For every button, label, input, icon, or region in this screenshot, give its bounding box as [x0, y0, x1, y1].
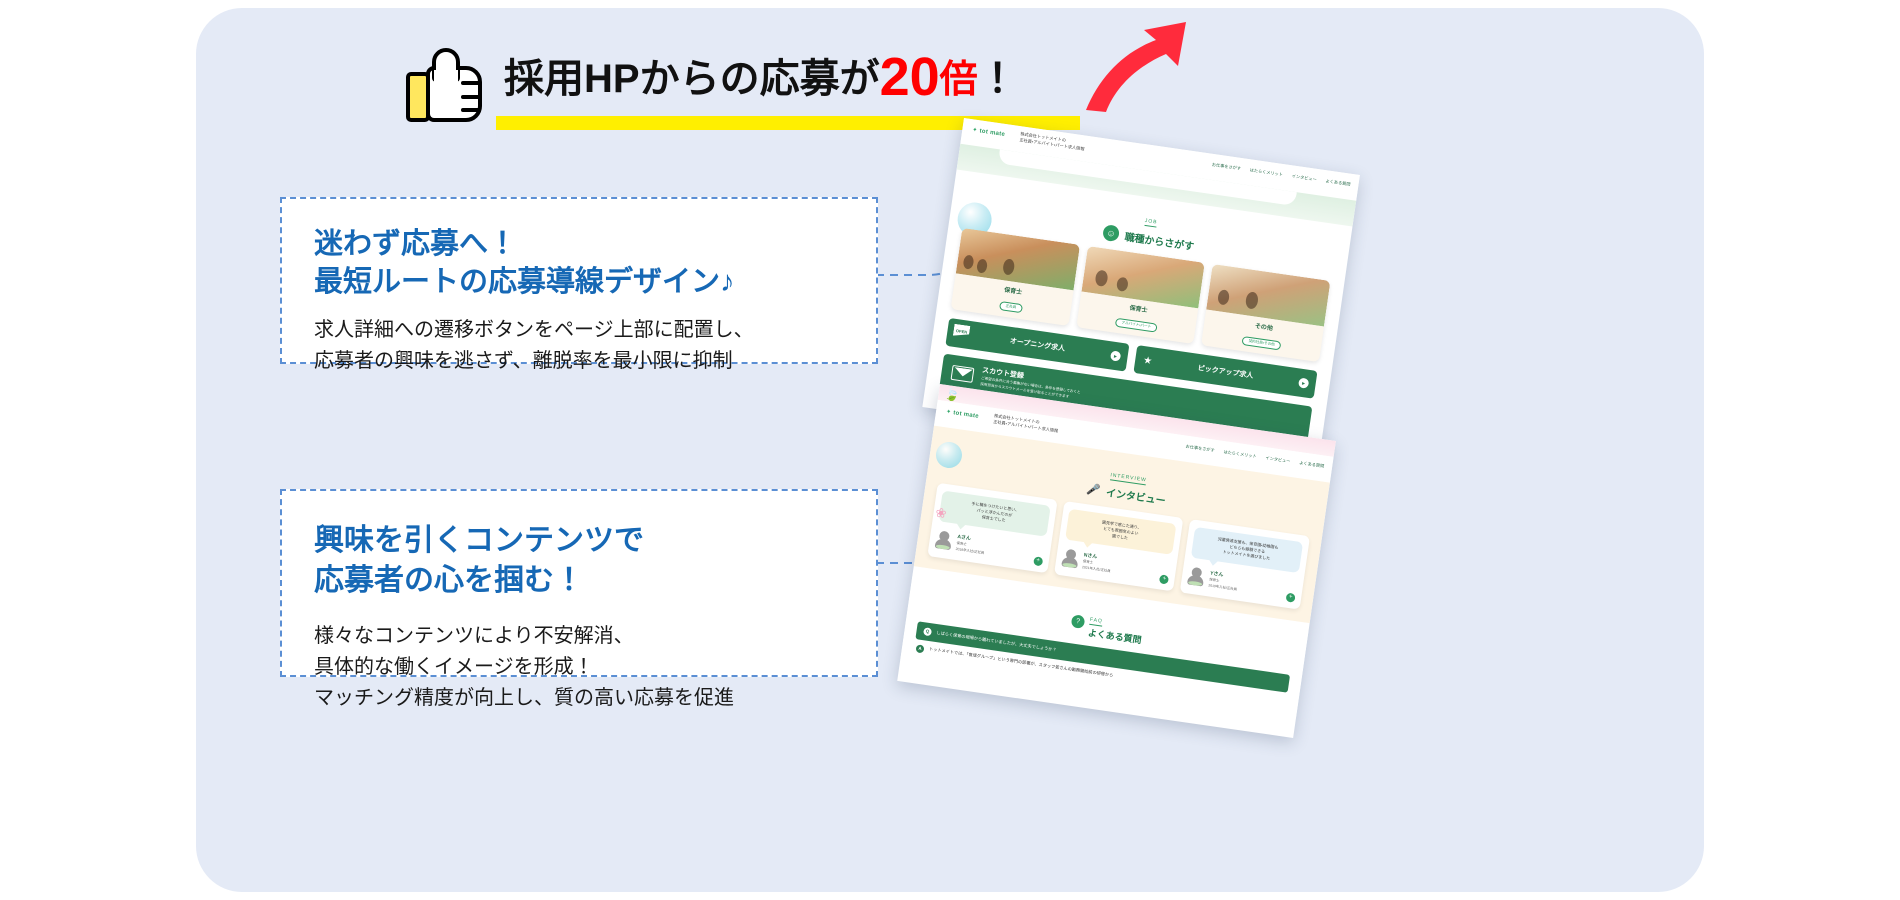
brand-logo-text: tot mate [953, 410, 979, 420]
upward-arrow-icon [1082, 18, 1192, 114]
brand-logo[interactable]: ✦ tot mate [972, 126, 1006, 138]
job-card-tag: 契約社員・その他 [1242, 336, 1281, 350]
person-search-icon: ☺ [1102, 224, 1120, 242]
plus-icon[interactable]: + [1033, 556, 1043, 566]
avatar [935, 530, 953, 550]
open-badge-text: OPEN [956, 328, 968, 335]
nav-item-1[interactable]: はたらくメリット [1249, 167, 1283, 178]
interview-card[interactable]: 園見学で感じた通り、 とても雰囲気のよい 園でした Nさん 保育士 2021年入… [1054, 501, 1184, 591]
callout-2-heading-line-2: 応募者の心を掴む！ [314, 561, 876, 601]
callout-2-heading-line-1: 興味を引くコンテンツで [314, 521, 876, 561]
headline-banner: 採用HPからの応募が20倍！ [400, 48, 1180, 126]
nav-item-1[interactable]: はたらくメリット [1223, 449, 1257, 460]
interview-quote: 手に職をつけたいと思い、 パッと浮かんだのが 保育士でした [938, 490, 1050, 536]
callout-2-body-line-1: 様々なコンテンツにより不安解消、 [314, 622, 876, 651]
sakura-icon: ❀ [934, 505, 947, 522]
interview-card[interactable]: 手に職をつけたいと思い、 パッと浮かんだのが 保育士でした Aさん 保育士 20… [927, 483, 1057, 573]
star-icon: ★ [1142, 355, 1152, 367]
callout-box-2: 興味を引くコンテンツで 応募者の心を掴む！ 様々なコンテンツにより不安解消、 具… [280, 489, 878, 677]
thumbs-up-icon [406, 48, 486, 122]
interview-quote: 園見学で感じた通り、 とても雰囲気のよい 園でした [1065, 509, 1177, 555]
job-section-en: JOB [1144, 218, 1158, 228]
website-mockup: ✦ tot mate 株式会社トットメイトの 正社員・アルバイト・パート求人情報… [940, 118, 1400, 698]
pickup-jobs-label: ピックアップ求人 [1197, 363, 1254, 381]
nav-item-2[interactable]: インタビュー [1265, 455, 1291, 465]
arrow-right-icon: ▸ [1110, 350, 1121, 361]
callout-2-body-line-2: 具体的な働くイメージを形成！ [314, 653, 876, 682]
callout-2-body-line-3: マッチング精度が向上し、質の高い応募を促進 [314, 684, 876, 713]
headline-unit: 倍 [940, 59, 978, 101]
job-card[interactable]: 保育士 アルバイト・パート [1076, 246, 1205, 344]
job-card-tag: 正社員 [999, 301, 1023, 313]
faq-section-en: FAQ [1089, 617, 1103, 627]
answer-badge: A [916, 644, 925, 653]
nav-item-2[interactable]: インタビュー [1291, 173, 1317, 183]
nav-item-0[interactable]: お仕事をさがす [1211, 162, 1241, 172]
job-card-tag: アルバイト・パート [1115, 318, 1158, 333]
brand-corp-info: 株式会社トットメイトの 正社員・アルバイト・パート求人情報 [1019, 131, 1086, 153]
brand-logo-text: tot mate [979, 128, 1005, 138]
headline-main-text: 採用HPからの応募が [504, 57, 880, 101]
callout-1-body-line-2: 応募者の興味を逃さず、離脱率を最小限に抑制 [314, 347, 876, 376]
avatar [1187, 567, 1205, 587]
question-balloon-icon: ? [1071, 614, 1086, 629]
interview-section-en: INTERVIEW [1110, 472, 1147, 485]
callout-1-body-line-1: 求人詳細への遷移ボタンをページ上部に配置し、 [314, 316, 876, 345]
flag-icon: OPEN [953, 324, 971, 338]
envelope-icon [951, 364, 975, 382]
nav-item-3[interactable]: よくある質問 [1325, 178, 1351, 188]
callout-1-heading-line-1: 迷わず応募へ！ [314, 225, 876, 263]
opening-jobs-label: オープニング求人 [1009, 336, 1065, 354]
headline-text: 採用HPからの応募が20倍！ [504, 50, 1018, 104]
callout-box-1: 迷わず応募へ！ 最短ルートの応募導線デザイン♪ 求人詳細への遷移ボタンをページ上… [280, 197, 878, 364]
brand-corp-info: 株式会社トットメイトの 正社員・アルバイト・パート求人情報 [993, 413, 1060, 435]
avatar [1061, 548, 1079, 568]
nav-item-0[interactable]: お仕事をさがす [1185, 444, 1215, 454]
nav-item-3[interactable]: よくある質問 [1299, 460, 1325, 470]
plus-icon[interactable]: + [1286, 592, 1296, 602]
question-badge: Q [923, 627, 932, 636]
callout-1-heading-line-2: 最短ルートの応募導線デザイン♪ [314, 263, 876, 301]
interview-quote: 児童発達支援も、保育園・幼稚園も どちらも経験できる トットメイトを選びました [1191, 527, 1303, 573]
headline-number: 20 [880, 47, 940, 107]
mockup-bottom-page[interactable]: 🍃 ✦ tot mate 株式会社トットメイトの 正社員・アルバイト・パート求人… [897, 384, 1336, 738]
faq-section-ja: よくある質問 [1087, 626, 1142, 647]
job-card[interactable]: その他 契約社員・その他 [1201, 264, 1330, 362]
brand-logo[interactable]: ✦ tot mate [946, 408, 980, 420]
poster-root: 採用HPからの応募が20倍！ 迷わず応募へ！ 最短ルートの応募導線デザイン♪ 求… [0, 0, 1900, 900]
microphone-icon: 🎤 [1086, 482, 1101, 497]
arrow-right-icon: ▸ [1298, 377, 1309, 388]
headline-exclamation: ！ [978, 57, 1018, 101]
job-card[interactable]: 保育士 正社員 [951, 228, 1080, 326]
interview-card[interactable]: 児童発達支援も、保育園・幼稚園も どちらも経験できる トットメイトを選びました … [1180, 519, 1310, 609]
